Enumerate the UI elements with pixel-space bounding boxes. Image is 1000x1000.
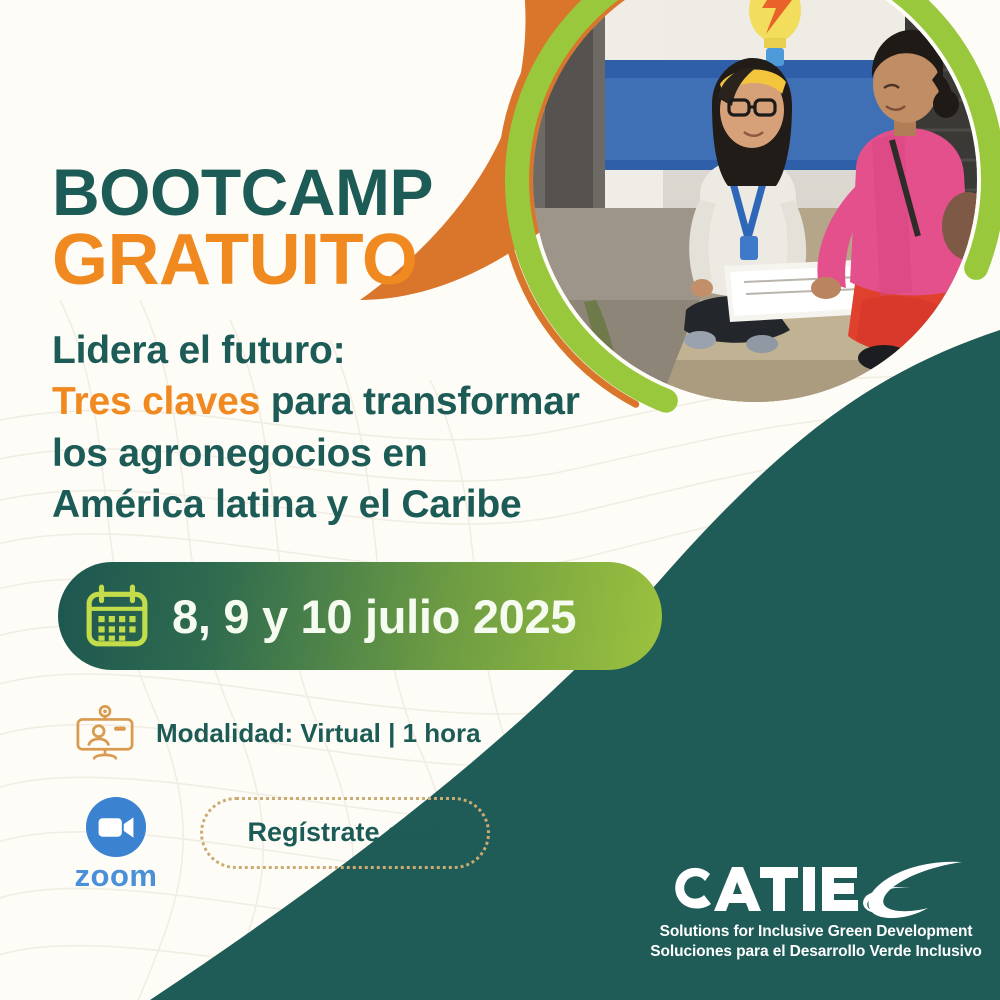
headline-line-2: GRATUITO xyxy=(52,226,433,294)
modality-row: Modalidad: Virtual | 1 hora xyxy=(74,705,481,761)
cta-row: zoom Regístrate aquí xyxy=(62,796,490,891)
zoom-camera-icon xyxy=(85,796,147,858)
subtitle-highlight: Tres claves xyxy=(52,380,260,423)
catie-tagline-es: Soluciones para el Desarrollo Verde Incl… xyxy=(650,942,981,962)
headline-line-1: BOOTCAMP xyxy=(52,161,433,224)
subtitle-line-2-rest: para transformar xyxy=(260,380,580,423)
catie-tagline-en: Solutions for Inclusive Green Developmen… xyxy=(660,922,973,942)
subtitle-line-3: los agronegocios en xyxy=(52,428,752,479)
modality-text: Modalidad: Virtual | 1 hora xyxy=(156,718,481,749)
zoom-wordmark: zoom xyxy=(75,860,158,891)
subtitle-line-4: América latina y el Caribe xyxy=(52,479,752,530)
video-monitor-icon xyxy=(74,705,136,761)
catie-logo: Solutions for Inclusive Green Developmen… xyxy=(666,856,966,962)
catie-wordmark-icon xyxy=(666,856,966,922)
promo-poster: BOOTCAMP GRATUITO Lidera el futuro: Tres… xyxy=(0,0,1000,1000)
page-title: BOOTCAMP GRATUITO xyxy=(52,161,433,294)
subtitle: Lidera el futuro: Tres claves para trans… xyxy=(52,325,752,531)
event-date-badge: 8, 9 y 10 julio 2025 xyxy=(58,562,662,670)
zoom-logo: zoom xyxy=(62,796,170,891)
calendar-icon xyxy=(84,583,150,649)
register-button[interactable]: Regístrate aquí xyxy=(200,797,490,869)
subtitle-line-2: Tres claves para transformar xyxy=(52,376,752,427)
event-date-text: 8, 9 y 10 julio 2025 xyxy=(172,589,576,644)
subtitle-line-1: Lidera el futuro: xyxy=(52,325,752,376)
